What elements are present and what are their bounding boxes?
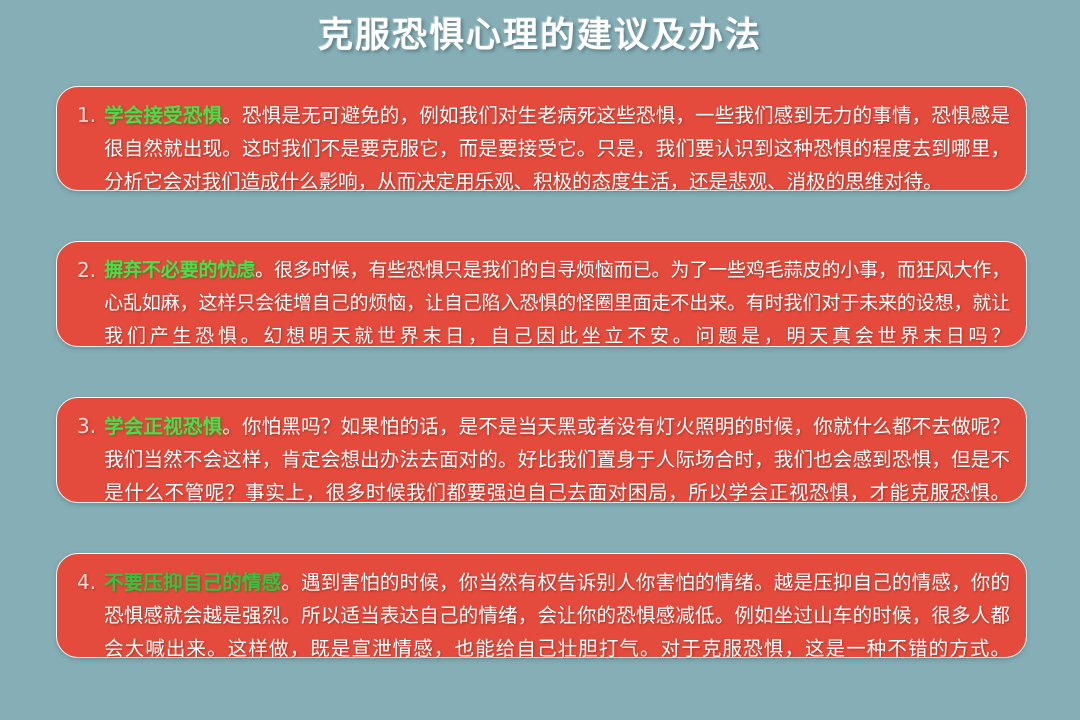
tip-lead-1: 学会接受恐惧	[104, 104, 222, 127]
tip-marker-1: 1.	[77, 99, 104, 132]
tip-marker-3: 3.	[77, 410, 104, 443]
tip-card-2[interactable]: 2. 摒弃不必要的忧虑。很多时候，有些恐惧只是我们的自寻烦恼而已。为了一些鸡毛蒜…	[56, 241, 1027, 347]
tip-lead-2: 摒弃不必要的忧虑	[104, 259, 255, 281]
tip-lead-4: 不要压抑自己的情感	[104, 571, 281, 594]
tip-body-4: 不要压抑自己的情感。遇到害怕的时候，你当然有权告诉别人你害怕的情绪。越是压抑自己…	[104, 566, 1010, 665]
tip-card-4[interactable]: 4. 不要压抑自己的情感。遇到害怕的时候，你当然有权告诉别人你害怕的情绪。越是压…	[56, 553, 1027, 658]
tip-marker-4: 4.	[77, 566, 104, 599]
tip-lead-3: 学会正视恐惧	[104, 415, 222, 438]
tip-text-3: 。你怕黑吗？如果怕的话，是不是当天黑或者没有灯火照明的时候，你就什么都不去做呢？…	[104, 415, 1010, 504]
slide-root: 克服恐惧心理的建议及办法 1. 学会接受恐惧。恐惧是无可避免的，例如我们对生老病…	[0, 0, 1080, 720]
tip-body-2: 摒弃不必要的忧虑。很多时候，有些恐惧只是我们的自寻烦恼而已。为了一些鸡毛蒜皮的小…	[104, 254, 1010, 353]
tip-text-1: 。恐惧是无可避免的，例如我们对生老病死这些恐惧，一些我们感到无力的事情，恐惧感是…	[104, 104, 1010, 193]
tip-marker-2: 2.	[77, 254, 104, 287]
tip-card-3[interactable]: 3. 学会正视恐惧。你怕黑吗？如果怕的话，是不是当天黑或者没有灯火照明的时候，你…	[56, 397, 1027, 503]
tip-card-1[interactable]: 1. 学会接受恐惧。恐惧是无可避免的，例如我们对生老病死这些恐惧，一些我们感到无…	[56, 86, 1027, 191]
tip-body-1: 学会接受恐惧。恐惧是无可避免的，例如我们对生老病死这些恐惧，一些我们感到无力的事…	[104, 99, 1010, 198]
page-title: 克服恐惧心理的建议及办法	[0, 14, 1080, 58]
tips-list: 1. 学会接受恐惧。恐惧是无可避免的，例如我们对生老病死这些恐惧，一些我们感到无…	[56, 86, 1027, 658]
tip-body-3: 学会正视恐惧。你怕黑吗？如果怕的话，是不是当天黑或者没有灯火照明的时候，你就什么…	[104, 410, 1010, 509]
